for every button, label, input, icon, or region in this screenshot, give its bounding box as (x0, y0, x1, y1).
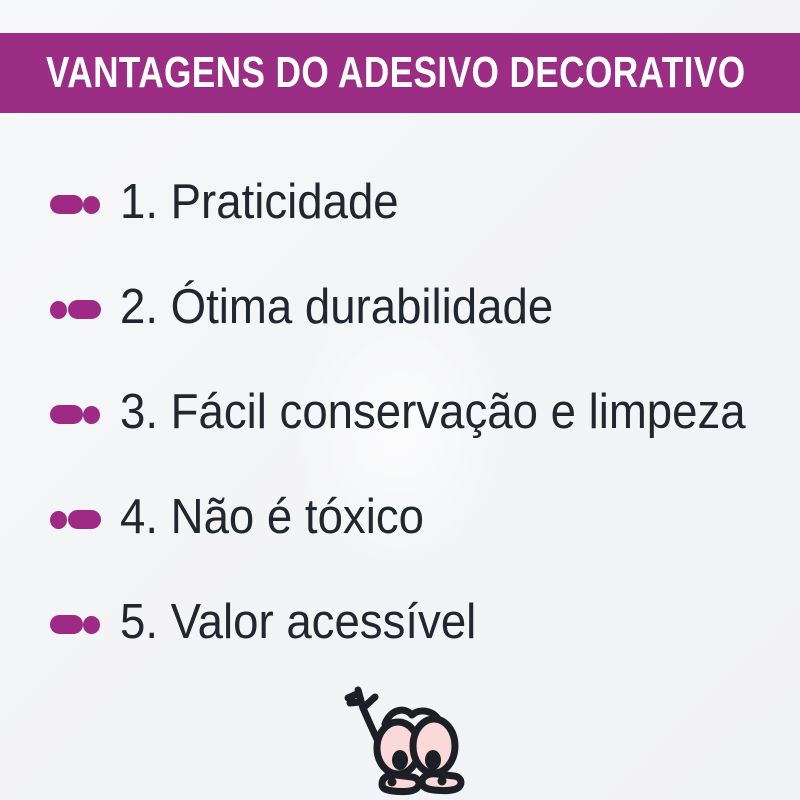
dash-dot-bullet-icon (50, 192, 100, 214)
waving-eyes-mascot-icon (330, 672, 470, 798)
dash-dot-bullet-icon (50, 402, 100, 424)
bullet-dot-shape (50, 511, 67, 529)
list-item-label: 1. Praticidade (120, 178, 399, 227)
header-banner: VANTAGENS DO ADESIVO DECORATIVO (0, 33, 800, 113)
list-item-label: 2. Ótima durabilidade (120, 283, 553, 332)
list-item: 2. Ótima durabilidade (0, 255, 800, 360)
bullet-pill-shape (68, 300, 101, 319)
list-item: 5. Valor acessível (0, 570, 800, 675)
bullet-dot-shape (83, 616, 100, 634)
advantages-list: 1. Praticidade 2. Ótima durabilidade 3. … (0, 150, 800, 675)
bullet-pill-shape (68, 510, 101, 529)
list-item-label: 4. Não é tóxico (120, 493, 424, 542)
dash-dot-bullet-icon (50, 612, 100, 634)
poster-canvas: VANTAGENS DO ADESIVO DECORATIVO 1. Prati… (0, 0, 800, 800)
dot-dash-bullet-icon (50, 297, 100, 319)
bullet-dot-shape (83, 406, 100, 424)
list-item-label: 3. Fácil conservação e limpeza (120, 388, 746, 437)
list-item-label: 5. Valor acessível (120, 598, 476, 647)
list-item: 3. Fácil conservação e limpeza (0, 360, 800, 465)
bullet-pill-shape (50, 405, 83, 424)
bullet-dot-shape (83, 196, 100, 214)
bullet-dot-shape (50, 301, 67, 319)
bullet-pill-shape (50, 615, 83, 634)
page-title: VANTAGENS DO ADESIVO DECORATIVO (46, 51, 746, 95)
dot-dash-bullet-icon (50, 507, 100, 529)
list-item: 1. Praticidade (0, 150, 800, 255)
bullet-pill-shape (50, 195, 83, 214)
list-item: 4. Não é tóxico (0, 465, 800, 570)
